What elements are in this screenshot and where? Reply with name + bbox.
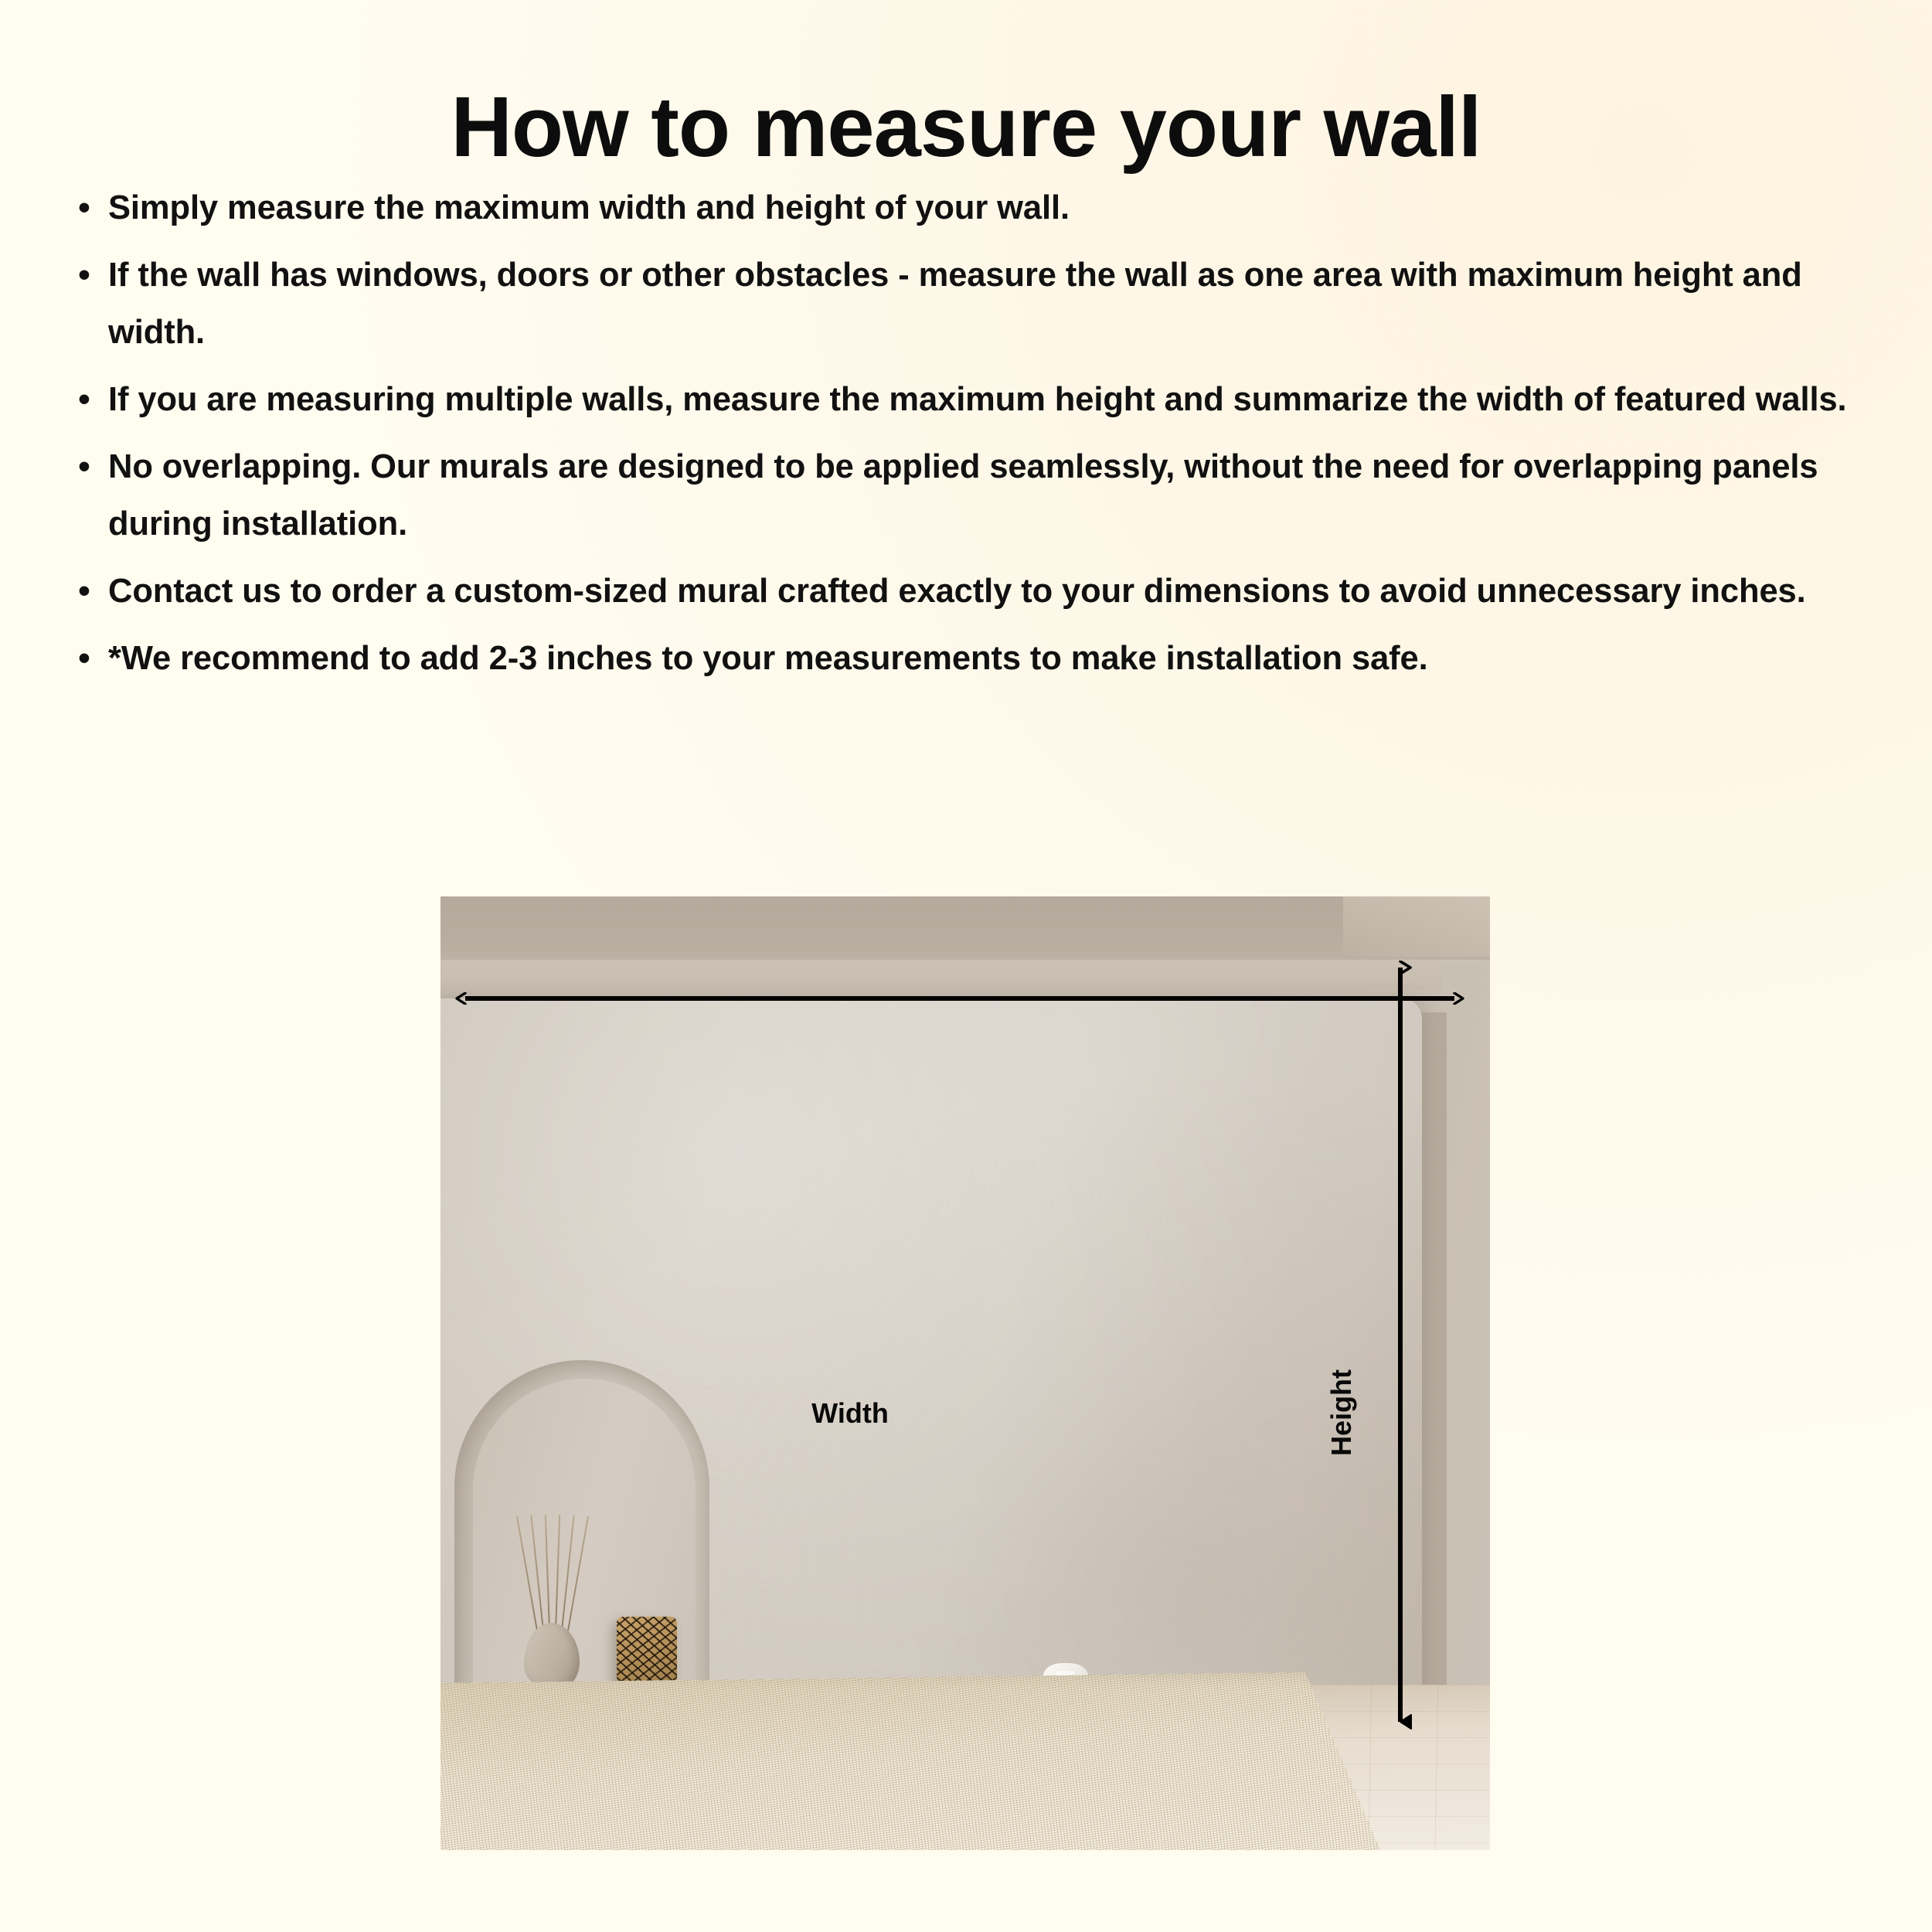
page-title: How to measure your wall xyxy=(0,79,1932,177)
bullet-marker-icon: • xyxy=(60,247,108,304)
list-item: • If the wall has windows, doors or othe… xyxy=(60,247,1876,361)
list-item: • Simply measure the maximum width and h… xyxy=(60,179,1876,236)
bullet-marker-icon: • xyxy=(60,438,108,495)
measurement-diagram-image: Width Height xyxy=(440,896,1490,1850)
room-scene: Width Height xyxy=(440,896,1490,1850)
instructions-list: • Simply measure the maximum width and h… xyxy=(60,179,1876,697)
page-root: How to measure your wall • Simply measur… xyxy=(0,0,1932,1932)
bullet-marker-icon: • xyxy=(60,179,108,236)
list-item: • *We recommend to add 2-3 inches to you… xyxy=(60,630,1876,687)
list-item: • Contact us to order a custom-sized mur… xyxy=(60,563,1876,620)
list-item-text: No overlapping. Our murals are designed … xyxy=(108,438,1876,553)
dried-reeds xyxy=(532,1515,578,1631)
woven-basket xyxy=(617,1617,677,1688)
list-item: • If you are measuring multiple walls, m… xyxy=(60,371,1876,428)
height-label: Height xyxy=(1325,1369,1358,1456)
bullet-marker-icon: • xyxy=(60,630,108,687)
width-label: Width xyxy=(440,1397,1260,1430)
list-item-text: If you are measuring multiple walls, mea… xyxy=(108,371,1876,428)
list-item-text: *We recommend to add 2-3 inches to your … xyxy=(108,630,1876,687)
ceiling-notch xyxy=(1343,896,1490,957)
list-item-text: Contact us to order a custom-sized mural… xyxy=(108,563,1876,620)
bullet-marker-icon: • xyxy=(60,563,108,620)
list-item: • No overlapping. Our murals are designe… xyxy=(60,438,1876,553)
far-wall xyxy=(1442,964,1490,1784)
bullet-marker-icon: • xyxy=(60,371,108,428)
area-rug xyxy=(440,1672,1383,1850)
list-item-text: Simply measure the maximum width and hei… xyxy=(108,179,1876,236)
list-item-text: If the wall has windows, doors or other … xyxy=(108,247,1876,361)
